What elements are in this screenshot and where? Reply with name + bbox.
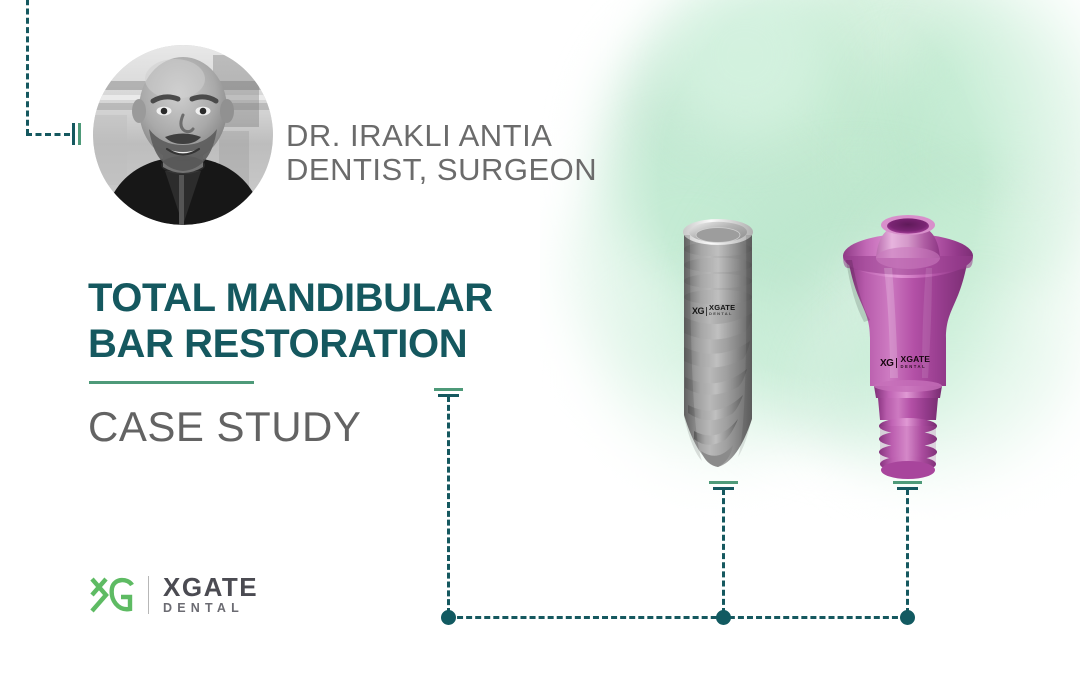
presenter-name: DR. IRAKLI ANTIA xyxy=(286,118,552,154)
slide-canvas: DR. IRAKLI ANTIA DENTIST, SURGEON TOTAL … xyxy=(0,0,1080,675)
baseline-dot-2 xyxy=(716,610,731,625)
abutment-brand-sub: DENTAL xyxy=(900,363,930,370)
callout-2-green-cap xyxy=(709,481,738,484)
brand-tagline: DENTAL xyxy=(163,600,258,616)
baseline-dot-3 xyxy=(900,610,915,625)
brand-name: XGATE xyxy=(163,574,258,600)
callout-3-stem xyxy=(906,489,909,614)
brand-divider xyxy=(148,576,149,614)
page-title: TOTAL MANDIBULAR BAR RESTORATION xyxy=(88,275,588,367)
abutment-brand-name: XGATE xyxy=(900,356,930,363)
implant-monogram: XG xyxy=(692,306,704,316)
page-subtitle: CASE STUDY xyxy=(88,403,361,451)
brand-logo: XGATE DENTAL xyxy=(90,572,258,618)
baseline-dot-1 xyxy=(441,610,456,625)
green-smoke-background xyxy=(540,0,1080,520)
corner-guide-vertical xyxy=(26,0,29,135)
abutment-render xyxy=(828,198,988,483)
title-line-2: BAR RESTORATION xyxy=(88,321,588,367)
product-multi-unit-abutment: XG XGATE DENTAL xyxy=(828,198,988,483)
implant-brand-etch: XG XGATE DENTAL xyxy=(692,305,735,317)
corner-guide-endcap-green xyxy=(78,123,81,145)
callout-3-green-cap xyxy=(893,481,922,484)
implant-brand-sub: DENTAL xyxy=(709,311,735,317)
callout-1-green-cap xyxy=(434,388,463,391)
avatar xyxy=(93,45,273,225)
title-underline-rule xyxy=(89,381,254,384)
title-line-1: TOTAL MANDIBULAR xyxy=(88,276,493,320)
xg-monogram-icon xyxy=(90,575,136,615)
corner-guide-endcap xyxy=(72,123,75,145)
presenter-role: DENTIST, SURGEON xyxy=(286,152,597,188)
abutment-brand-etch: XG XGATE DENTAL xyxy=(880,356,930,370)
callout-2-stem xyxy=(722,489,725,614)
dental-implant-render xyxy=(668,205,768,475)
abutment-monogram: XG xyxy=(880,358,893,369)
callout-1-stem xyxy=(447,396,450,614)
product-dental-implant: XG XGATE DENTAL xyxy=(668,205,768,475)
corner-guide-horizontal xyxy=(26,133,70,136)
baseline-connector xyxy=(448,616,907,619)
portrait-photo xyxy=(93,45,273,225)
